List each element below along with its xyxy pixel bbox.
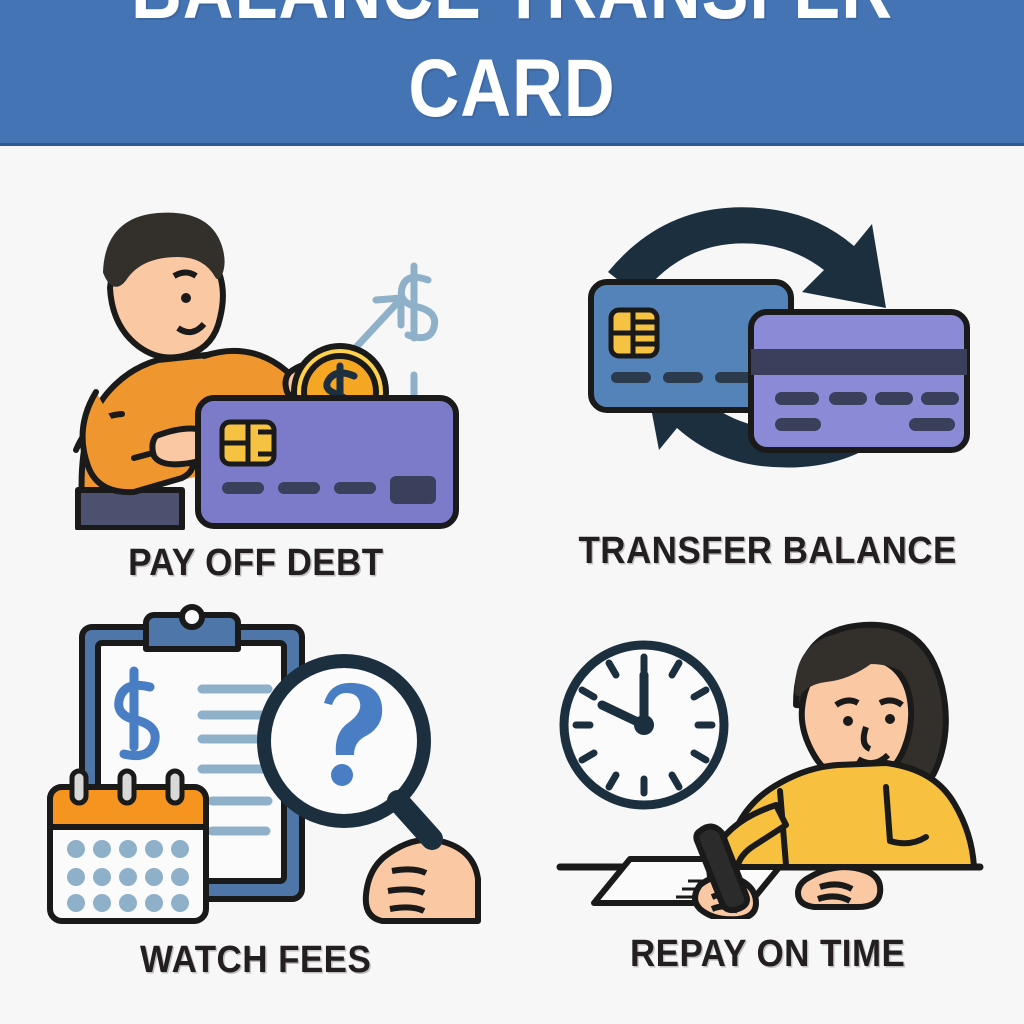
panel-label-transfer-balance: TRANSFER BALANCE (579, 530, 957, 573)
panel-watch-fees: WATCH FEES (0, 587, 512, 1024)
panel-label-watch-fees: WATCH FEES (140, 939, 371, 982)
dollar-symbol-icon (401, 266, 434, 338)
purple-credit-card (198, 398, 456, 526)
person-legs (78, 490, 182, 528)
panel-repay-on-time: REPAY ON TIME (512, 587, 1024, 1024)
panel-label-repay-on-time: REPAY ON TIME (630, 933, 905, 976)
panel-pay-off-debt: PAY OFF DEBT (0, 150, 512, 587)
panel-transfer-balance: TRANSFER BALANCE (512, 150, 1024, 587)
blue-card-chip-icon (611, 310, 657, 356)
person-head (798, 634, 918, 781)
blue-card-number-dashes (611, 372, 755, 383)
person-hand-resting (798, 867, 880, 907)
wall-clock (564, 645, 724, 805)
infographic-poster: BALANCE TRANSFER CARD (0, 0, 1024, 1024)
purple-credit-card-stripe (751, 312, 967, 450)
pay-off-debt-illustration (46, 160, 466, 530)
transfer-balance-illustration (553, 184, 983, 494)
panel-label-pay-off-debt: PAY OFF DEBT (128, 542, 383, 585)
watch-fees-illustration (26, 595, 486, 925)
page-title: BALANCE TRANSFER CARD (72, 0, 953, 138)
card-chip-icon (222, 422, 274, 464)
repay-on-time-illustration (548, 609, 988, 919)
calendar (50, 771, 206, 921)
panel-grid: PAY OFF DEBT (0, 150, 1024, 1024)
header-banner: BALANCE TRANSFER CARD (0, 0, 1024, 146)
person-head (106, 216, 223, 358)
hand-holding-magnifier (366, 840, 478, 921)
